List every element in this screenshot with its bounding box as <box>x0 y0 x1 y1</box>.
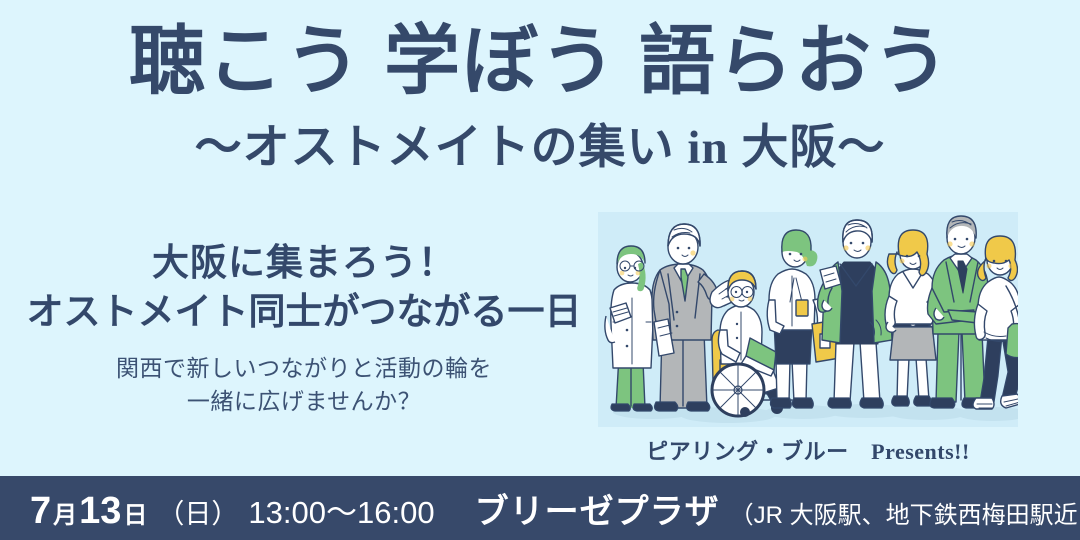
event-info-inner: 7 月 13 日 （日） 13:00〜16:00 ブリーゼプラザ （JR 大阪駅… <box>0 484 1080 533</box>
illustration-figures: .ln{fill:none;stroke:#33486b;stroke-widt… <box>598 212 1018 427</box>
page-title: 聴こう 学ぼう 語らおう <box>0 22 1080 103</box>
lead-copy-block: 大阪に集まろう！ オストメイト同士がつながる一日 関西で新しいつながりと活動の輪… <box>8 240 600 418</box>
event-month-unit: 月 <box>53 495 77 530</box>
event-weekday: （日） <box>157 492 238 531</box>
event-venue: ブリーゼプラザ <box>475 484 720 533</box>
lead-line-1: 大阪に集まろう！ <box>8 240 600 285</box>
poster-canvas: 聴こう 学ぼう 語らおう 〜オストメイトの集い in 大阪〜 大阪に集まろう！ … <box>0 0 1080 540</box>
note-line-2: 一緒に広げませんか？ <box>8 385 600 418</box>
event-venue-note: （JR 大阪駅、地下鉄西梅田駅近く） <box>730 495 1080 530</box>
figure-5-green-cardigan-man <box>818 220 892 408</box>
page-subtitle: 〜オストメイトの集い in 大阪〜 <box>0 123 1080 175</box>
note-block: 関西で新しいつながりと活動の輪を 一緒に広げませんか？ <box>8 352 600 417</box>
figure-1-nurse <box>605 246 653 411</box>
event-day: 13 <box>79 490 121 533</box>
event-info-bar: 7 月 13 日 （日） 13:00〜16:00 ブリーゼプラザ （JR 大阪駅… <box>0 476 1080 540</box>
presents-credit: ピアリング・ブルー Presents!! <box>598 434 1018 466</box>
lead-line-2: オストメイト同士がつながる一日 <box>8 289 600 334</box>
event-month: 7 <box>30 490 51 533</box>
group-of-people-illustration: .ln{fill:none;stroke:#33486b;stroke-widt… <box>598 212 1018 427</box>
note-line-1: 関西で新しいつながりと活動の輪を <box>8 352 600 385</box>
event-time-range: 13:00〜16:00 <box>248 487 434 532</box>
event-day-unit: 日 <box>123 495 147 530</box>
